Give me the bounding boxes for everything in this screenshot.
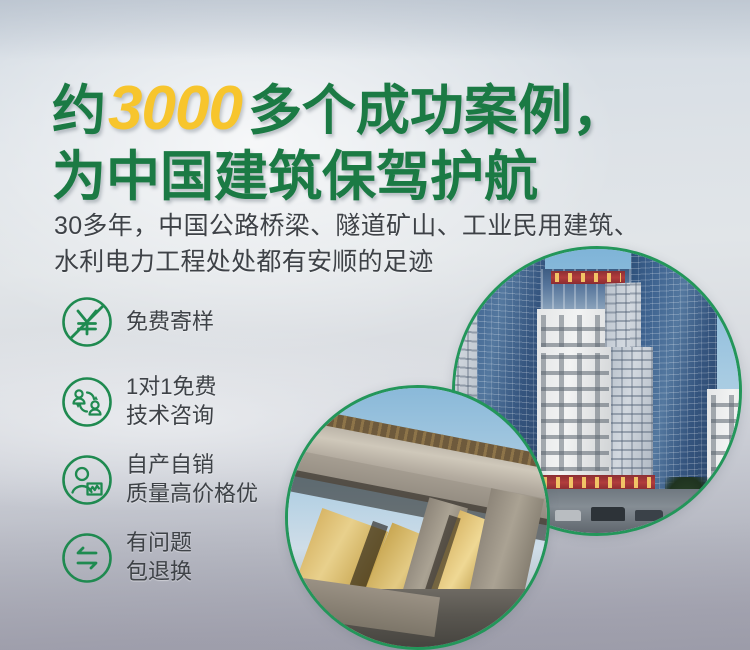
- promo-banner: 约3000多个成功案例， 为中国建筑保驾护航 30多年，中国公路桥梁、隧道矿山、…: [0, 0, 750, 650]
- subtitle-line-1: 30多年，中国公路桥梁、隧道矿山、工业民用建筑、: [54, 208, 639, 244]
- top-haze: [0, 0, 750, 60]
- feature-item-return[interactable]: 有问题 包退换: [60, 530, 258, 586]
- feature-label: 1对1免费 技术咨询: [126, 373, 216, 430]
- one-to-one-consult-icon: [60, 375, 114, 429]
- headline-line-2: 为中国建筑保驾护航: [52, 150, 626, 204]
- person-chart-icon: [60, 453, 114, 507]
- return-exchange-arrows-icon: [60, 531, 114, 585]
- no-fee-yuan-icon: [60, 295, 114, 349]
- feature-label: 有问题 包退换: [126, 529, 192, 586]
- feature-label: 自产自销 质量高价格优: [126, 451, 258, 508]
- feature-list: 免费寄样: [60, 294, 258, 610]
- headline-suffix: 多个成功案例，: [248, 81, 626, 141]
- feature-label-line: 质量高价格优: [126, 481, 258, 506]
- headline-number: 3000: [106, 74, 248, 143]
- feature-item-free-sample[interactable]: 免费寄样: [60, 294, 258, 350]
- headline-prefix: 约: [52, 81, 106, 141]
- feature-label-line: 有问题: [126, 530, 192, 555]
- feature-label-line: 1对1免费: [126, 374, 216, 399]
- feature-item-self-production[interactable]: 自产自销 质量高价格优: [60, 452, 258, 508]
- feature-label-line: 包退换: [126, 559, 192, 584]
- bridge-photo: [285, 385, 550, 650]
- feature-label-line: 免费寄样: [126, 309, 214, 334]
- feature-item-consult[interactable]: 1对1免费 技术咨询: [60, 374, 258, 430]
- headline-line-1: 约3000多个成功案例，: [52, 78, 626, 140]
- feature-label-line: 技术咨询: [126, 403, 214, 428]
- feature-label-line: 自产自销: [126, 452, 214, 477]
- headline: 约3000多个成功案例， 为中国建筑保驾护航: [52, 78, 626, 204]
- feature-label: 免费寄样: [126, 308, 214, 337]
